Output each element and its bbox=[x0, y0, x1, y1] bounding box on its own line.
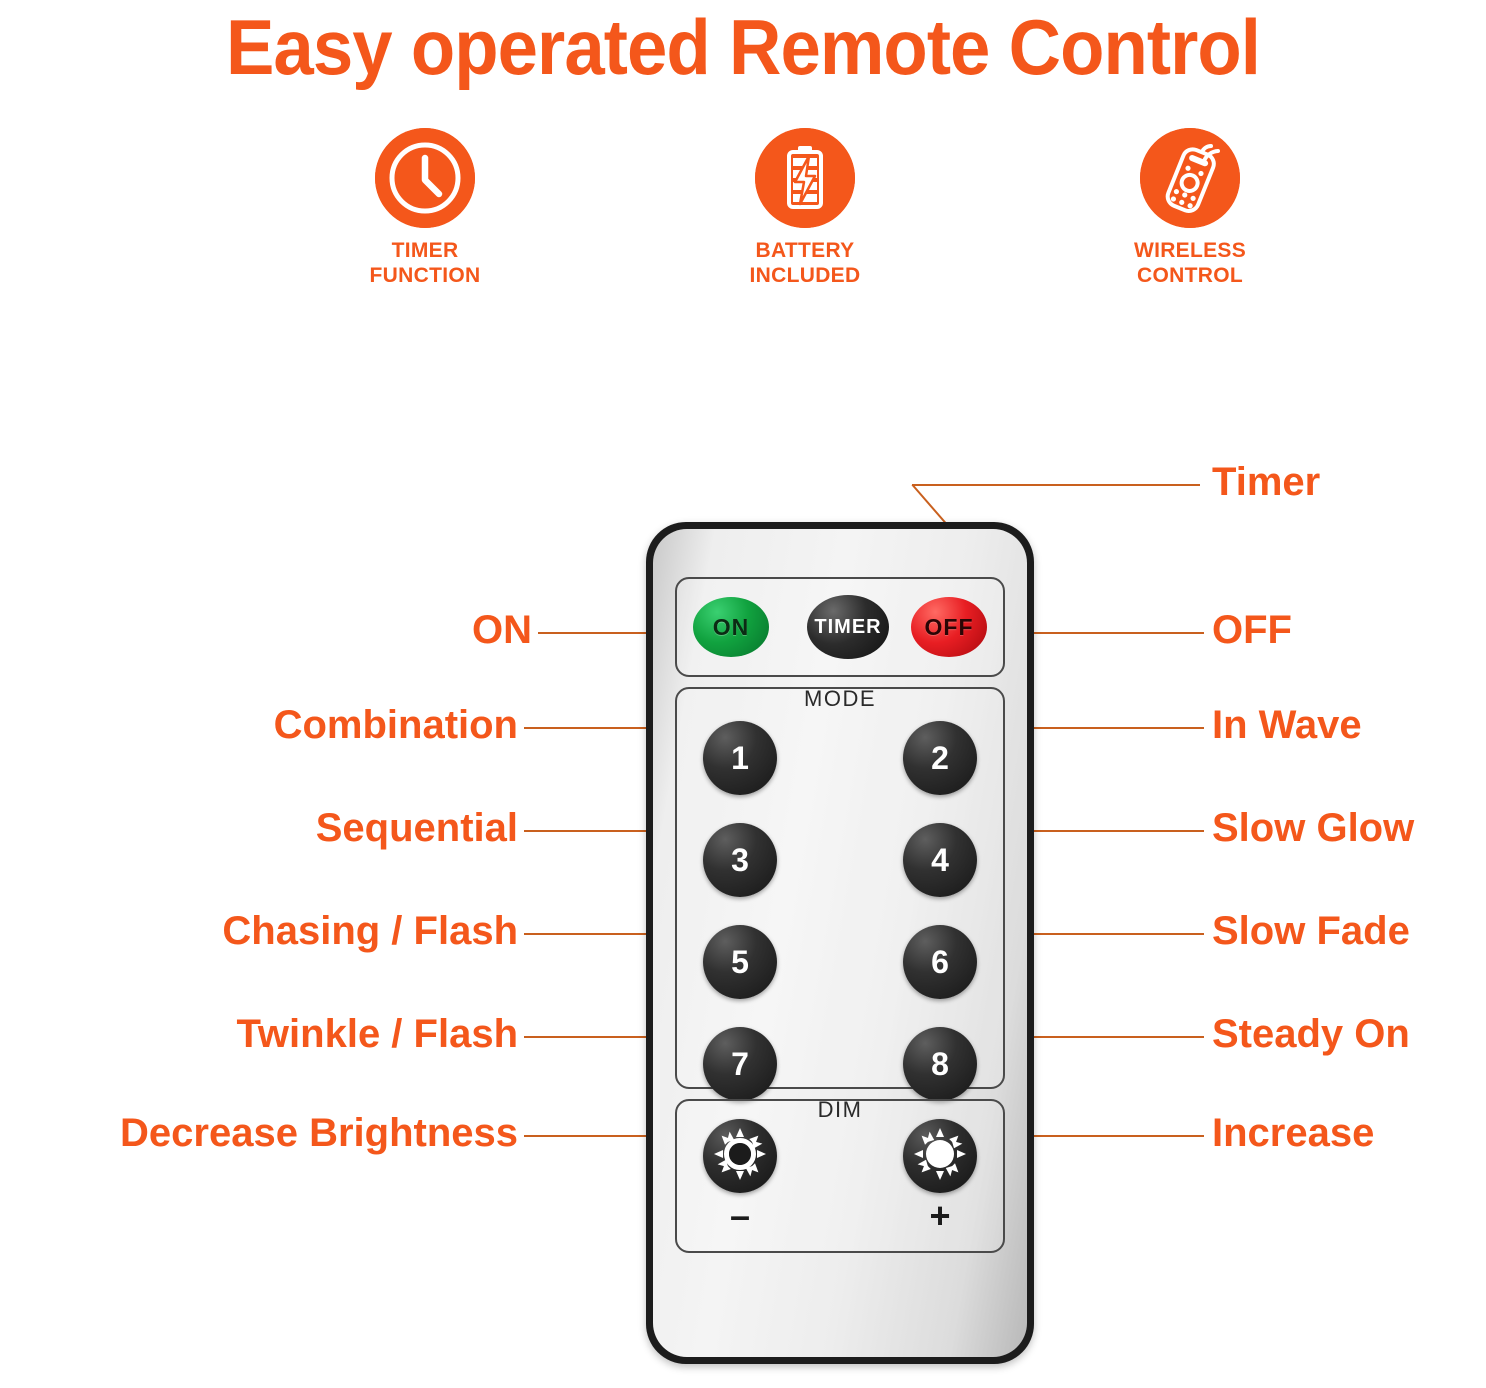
remote-signal-icon bbox=[1140, 128, 1240, 228]
infographic-canvas: Easy operated Remote Control TIMER FUNCT… bbox=[0, 0, 1486, 1388]
callout-dim-plus: Increase bbox=[1212, 1111, 1374, 1155]
feature-label-line1: BATTERY bbox=[675, 238, 935, 263]
power-panel: ON TIMER OFF bbox=[675, 577, 1005, 677]
mode-button-8[interactable]: 8 bbox=[903, 1027, 977, 1101]
callout-timer: Timer bbox=[1212, 460, 1320, 504]
feature-label-line2: FUNCTION bbox=[295, 263, 555, 288]
feature-label-line1: TIMER bbox=[295, 238, 555, 263]
feature-wireless-control: WIRELESS CONTROL bbox=[1060, 128, 1320, 288]
mode-button-6[interactable]: 6 bbox=[903, 925, 977, 999]
clock-icon bbox=[375, 128, 475, 228]
dim-increase-button[interactable] bbox=[903, 1119, 977, 1193]
remote-faceplate: ON TIMER OFF MODE 1 2 3 4 5 6 7 8 DIM bbox=[653, 529, 1027, 1357]
mode-button-2[interactable]: 2 bbox=[903, 721, 977, 795]
mode-button-1[interactable]: 1 bbox=[703, 721, 777, 795]
callout-mode7: Twinkle / Flash bbox=[0, 1012, 518, 1056]
feature-label: WIRELESS CONTROL bbox=[1060, 238, 1320, 288]
off-button[interactable]: OFF bbox=[911, 597, 987, 657]
mode-button-3[interactable]: 3 bbox=[703, 823, 777, 897]
sun-filled-icon bbox=[912, 1126, 968, 1187]
dim-decrease-sign: – bbox=[703, 1201, 777, 1231]
timer-button[interactable]: TIMER bbox=[807, 595, 889, 659]
leader-line-timer-h bbox=[912, 484, 1200, 486]
on-button[interactable]: ON bbox=[693, 597, 769, 657]
mode-panel: MODE 1 2 3 4 5 6 7 8 bbox=[675, 687, 1005, 1089]
callout-mode8: Steady On bbox=[1212, 1012, 1410, 1056]
dim-panel: DIM bbox=[675, 1099, 1005, 1253]
dim-decrease-button[interactable] bbox=[703, 1119, 777, 1193]
feature-label: TIMER FUNCTION bbox=[295, 238, 555, 288]
callout-mode3: Sequential bbox=[0, 806, 518, 850]
feature-label: BATTERY INCLUDED bbox=[675, 238, 935, 288]
mode-button-7[interactable]: 7 bbox=[703, 1027, 777, 1101]
callout-mode2: In Wave bbox=[1212, 703, 1362, 747]
mode-panel-label: MODE bbox=[677, 686, 1003, 712]
feature-timer-function: TIMER FUNCTION bbox=[295, 128, 555, 288]
callout-mode6: Slow Fade bbox=[1212, 909, 1410, 953]
remote-control-device: ON TIMER OFF MODE 1 2 3 4 5 6 7 8 DIM bbox=[646, 522, 1034, 1364]
page-title: Easy operated Remote Control bbox=[52, 2, 1434, 93]
callout-mode5: Chasing / Flash bbox=[0, 909, 518, 953]
sun-hollow-icon bbox=[712, 1126, 768, 1187]
callout-on: ON bbox=[0, 608, 532, 652]
callout-mode1: Combination bbox=[0, 703, 518, 747]
feature-battery-included: BATTERY INCLUDED bbox=[675, 128, 935, 288]
feature-label-line2: CONTROL bbox=[1060, 263, 1320, 288]
callout-mode4: Slow Glow bbox=[1212, 806, 1414, 850]
dim-panel-label: DIM bbox=[677, 1097, 1003, 1123]
callout-dim-minus: Decrease Brightness bbox=[0, 1111, 518, 1155]
feature-label-line1: WIRELESS bbox=[1060, 238, 1320, 263]
mode-button-5[interactable]: 5 bbox=[703, 925, 777, 999]
feature-label-line2: INCLUDED bbox=[675, 263, 935, 288]
dim-increase-sign: + bbox=[903, 1201, 977, 1231]
callout-off: OFF bbox=[1212, 608, 1292, 652]
battery-icon bbox=[755, 128, 855, 228]
mode-button-4[interactable]: 4 bbox=[903, 823, 977, 897]
feature-badge-row: TIMER FUNCTION BATTERY INCLUDED bbox=[0, 128, 1486, 318]
